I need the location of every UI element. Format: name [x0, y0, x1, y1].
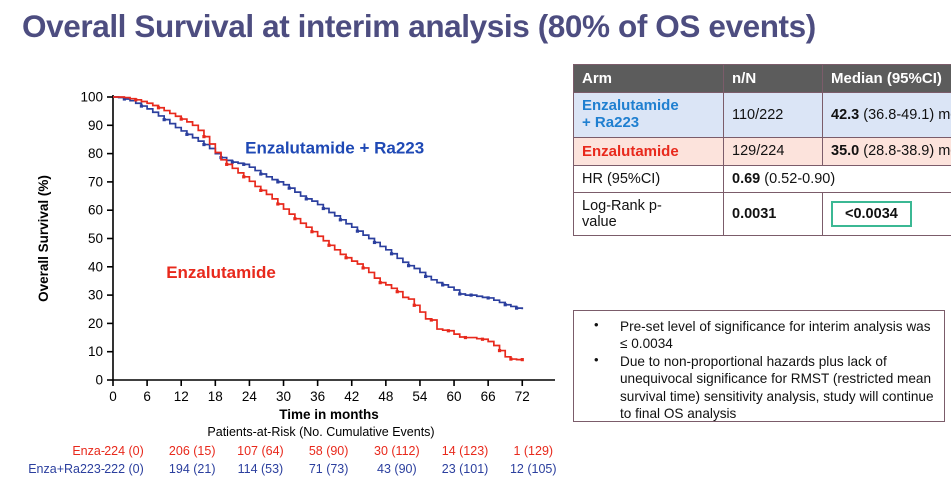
censor-mark [441, 283, 444, 286]
y-axis-tick-label: 10 [88, 344, 103, 359]
censor-mark [515, 307, 518, 310]
x-axis-tick-label: 48 [378, 389, 393, 404]
x-axis-tick-label: 42 [344, 389, 359, 404]
risk-cell: 206 (15) [169, 444, 216, 458]
bullet-icon: • [594, 352, 599, 368]
censor-mark [344, 256, 347, 259]
y-axis-tick-label: 80 [88, 146, 103, 161]
censor-mark [362, 266, 365, 269]
risk-cell: 43 (90) [377, 462, 417, 476]
censor-mark [521, 358, 524, 361]
censor-mark [231, 160, 234, 163]
y-axis-tick-label: 60 [88, 203, 103, 218]
censor-mark [225, 163, 228, 166]
y-axis-tick-label: 50 [88, 231, 103, 246]
risk-row-label: Enza+Ra223- [28, 462, 105, 476]
censor-mark [379, 281, 382, 284]
arm-name-combo: Enzalutamide + Ra223 [574, 93, 724, 138]
censor-mark [396, 290, 399, 293]
censor-mark [509, 357, 512, 360]
censor-mark [458, 292, 461, 295]
x-axis-tick-label: 0 [109, 389, 117, 404]
y-axis-tick-label: 40 [88, 259, 103, 274]
risk-cell: 114 (53) [238, 462, 284, 476]
col-header-median: Median (95%CI) [823, 65, 951, 93]
censor-mark [373, 241, 376, 244]
y-axis-tick-label: 100 [80, 90, 103, 105]
table-row-hr: HR (95%CI) 0.69 (0.52-0.90) [574, 165, 951, 192]
arm-combo-line2: + Ra223 [582, 115, 715, 132]
censor-mark [481, 338, 484, 341]
censor-mark [185, 133, 188, 136]
results-table: Arm n/N Median (95%CI) Enzalutamide + Ra… [573, 64, 951, 236]
y-axis-tick-label: 20 [88, 316, 103, 331]
note-text: Due to non-proportional hazards plus lac… [620, 354, 934, 420]
risk-cell: 71 (73) [309, 462, 349, 476]
x-axis-tick-label: 30 [276, 389, 291, 404]
hr-value: 0.69 [732, 171, 760, 187]
x-axis-tick-label: 18 [208, 389, 223, 404]
y-axis-title: Overall Survival (%) [36, 175, 51, 302]
risk-cell: 222 (0) [104, 462, 144, 476]
x-axis-tick-label: 24 [242, 389, 258, 404]
pvalue-label-line2: value [582, 214, 715, 230]
list-item: • Pre-set level of significance for inte… [580, 318, 938, 352]
arm-name-mono: Enzalutamide [574, 137, 724, 165]
significance-threshold-badge: <0.0034 [831, 201, 912, 227]
hr-value-cell: 0.69 (0.52-0.90) [724, 165, 951, 192]
median-mono-ci: (28.8-38.9) mo [859, 143, 951, 159]
censor-mark [140, 104, 143, 107]
risk-row-label: Enza- [72, 444, 105, 458]
pvalue-value: 0.0031 [724, 192, 823, 235]
kaplan-meier-chart: 0102030405060708090100Overall Survival (… [0, 58, 560, 484]
nn-mono: 129/224 [724, 137, 823, 165]
y-axis-tick-label: 0 [95, 373, 103, 388]
censor-mark [242, 175, 245, 178]
bullet-icon: • [594, 317, 599, 333]
risk-table-title: Patients-at-Risk (No. Cumulative Events) [207, 425, 434, 439]
risk-cell: 107 (64) [237, 444, 284, 458]
censor-mark [430, 318, 433, 321]
table-row-combo: Enzalutamide + Ra223 110/222 42.3 (36.8-… [574, 93, 951, 138]
censor-mark [413, 304, 416, 307]
hr-ci: (0.52-0.90) [760, 171, 835, 187]
x-axis-tick-label: 6 [143, 389, 151, 404]
arm-combo-line1: Enzalutamide [582, 98, 715, 115]
censor-mark [310, 230, 313, 233]
median-combo: 42.3 (36.8-49.1) mo [823, 93, 951, 138]
censor-mark [390, 252, 393, 255]
col-header-nn: n/N [724, 65, 823, 93]
nn-combo: 110/222 [724, 93, 823, 138]
x-axis-tick-label: 66 [481, 389, 496, 404]
y-axis-tick-label: 70 [88, 174, 103, 189]
x-axis-tick-label: 72 [515, 389, 530, 404]
x-axis-tick-label: 36 [310, 389, 325, 404]
censor-mark [464, 336, 467, 339]
censor-mark [305, 197, 308, 200]
censor-mark [487, 296, 490, 299]
y-axis-tick-label: 90 [88, 118, 103, 133]
censor-mark [259, 172, 262, 175]
censor-mark [276, 202, 279, 205]
col-header-arm: Arm [574, 65, 724, 93]
censor-mark [498, 349, 501, 352]
censor-mark [339, 218, 342, 221]
censor-mark [504, 303, 507, 306]
censor-mark [163, 118, 166, 121]
risk-cell: 14 (123) [442, 444, 489, 458]
censor-mark [157, 106, 160, 109]
risk-cell: 224 (0) [104, 444, 144, 458]
note-text: Pre-set level of significance for interi… [620, 319, 931, 351]
table-row-mono: Enzalutamide 129/224 35.0 (28.8-38.9) mo [574, 137, 951, 165]
censor-mark [470, 294, 473, 297]
censor-mark [242, 163, 245, 166]
risk-cell: 1 (129) [513, 444, 553, 458]
median-mono-value: 35.0 [831, 143, 859, 159]
median-combo-ci: (36.8-49.1) mo [859, 107, 951, 123]
x-axis-tick-label: 54 [412, 389, 428, 404]
censor-mark [327, 244, 330, 247]
risk-cell: 30 (112) [374, 444, 420, 458]
km-plot-svg: 0102030405060708090100Overall Survival (… [0, 58, 560, 484]
y-axis-tick-label: 30 [88, 288, 103, 303]
censor-mark [322, 207, 325, 210]
risk-cell: 23 (101) [442, 462, 489, 476]
censor-mark [134, 98, 137, 101]
notes-box: • Pre-set level of significance for inte… [573, 310, 945, 422]
pvalue-threshold-cell: <0.0034 [823, 192, 951, 235]
mono-curve-label: Enzalutamide [166, 263, 276, 282]
km-curve-mono [113, 97, 522, 360]
risk-cell: 58 (90) [309, 444, 349, 458]
risk-cell: 194 (21) [169, 462, 216, 476]
x-axis-tick-label: 60 [447, 389, 462, 404]
censor-mark [356, 230, 359, 233]
censor-mark [424, 275, 427, 278]
risk-cell: 12 (105) [510, 462, 557, 476]
combo-curve-label: Enzalutamide + Ra223 [245, 139, 424, 158]
censor-mark [202, 143, 205, 146]
results-table-panel: Arm n/N Median (95%CI) Enzalutamide + Ra… [573, 64, 945, 236]
median-combo-value: 42.3 [831, 107, 859, 123]
notes-list: • Pre-set level of significance for inte… [580, 318, 938, 422]
x-axis-tick-label: 12 [174, 389, 189, 404]
censor-mark [407, 264, 410, 267]
pvalue-label: Log-Rank p- value [574, 192, 724, 235]
pvalue-label-line1: Log-Rank p- [582, 198, 715, 214]
censor-mark [276, 180, 279, 183]
censor-mark [259, 189, 262, 192]
arm-mono-line1: Enzalutamide [582, 143, 715, 160]
table-header-row: Arm n/N Median (95%CI) [574, 65, 951, 93]
table-row-pvalue: Log-Rank p- value 0.0031 <0.0034 [574, 192, 951, 235]
x-axis-title: Time in months [279, 407, 379, 422]
page-title: Overall Survival at interim analysis (80… [22, 8, 942, 45]
hr-label: HR (95%CI) [574, 165, 724, 192]
censor-mark [202, 135, 205, 138]
list-item: • Due to non-proportional hazards plus l… [580, 353, 938, 422]
median-mono: 35.0 (28.8-38.9) mo [823, 137, 951, 165]
censor-mark [180, 117, 183, 120]
censor-mark [293, 217, 296, 220]
censor-mark [288, 187, 291, 190]
censor-mark [447, 329, 450, 332]
